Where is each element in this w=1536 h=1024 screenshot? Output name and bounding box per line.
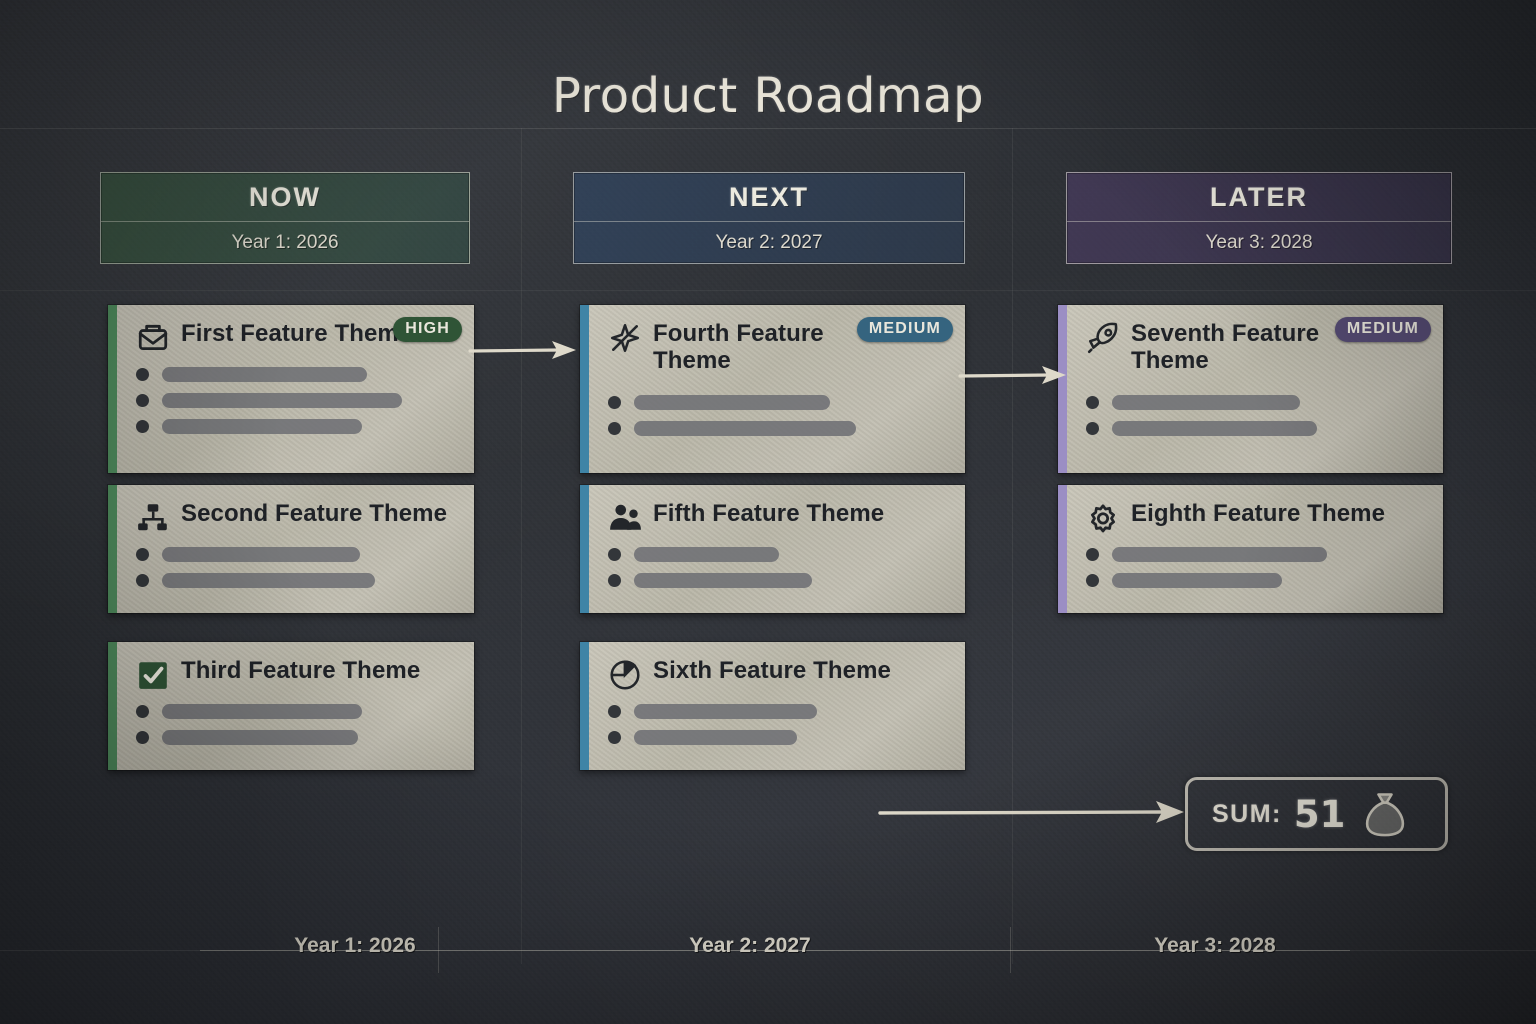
column-subtitle-later: Year 3: 2028 bbox=[1067, 222, 1451, 263]
card-bullet-item bbox=[1086, 395, 1429, 410]
timeline-axis: Year 1: 2026 Year 2: 2027 Year 3: 2028 bbox=[0, 950, 1536, 952]
roadmap-card[interactable]: Second Feature Theme bbox=[108, 485, 474, 613]
card-body: Third Feature Theme bbox=[136, 642, 460, 770]
column-title-next: NEXT bbox=[574, 173, 964, 222]
card-title-row: Second Feature Theme bbox=[136, 485, 460, 535]
bullet-dot-icon bbox=[136, 420, 149, 433]
bullet-redacted-bar bbox=[1112, 573, 1282, 588]
card-bullet-item bbox=[136, 573, 460, 588]
column-title-now: NOW bbox=[101, 173, 469, 222]
column-header-next[interactable]: NEXT Year 2: 2027 bbox=[573, 172, 965, 264]
card-body: Fifth Feature Theme bbox=[608, 485, 951, 613]
card-bullet-item bbox=[1086, 421, 1429, 436]
priority-badge[interactable]: MEDIUM bbox=[857, 317, 953, 342]
guide-line-vertical-1 bbox=[521, 128, 522, 964]
card-accent-bar bbox=[1058, 485, 1067, 613]
card-body: Second Feature Theme bbox=[136, 485, 460, 613]
card-bullet-item bbox=[136, 393, 460, 408]
gear-icon bbox=[1086, 501, 1120, 535]
roadmap-card[interactable]: Seventh Feature ThemeMEDIUM bbox=[1058, 305, 1443, 473]
card-title: Sixth Feature Theme bbox=[653, 658, 891, 685]
column-header-now[interactable]: NOW Year 1: 2026 bbox=[100, 172, 470, 264]
card-bullet-list bbox=[136, 704, 460, 745]
card-bullet-item bbox=[608, 395, 951, 410]
bullet-redacted-bar bbox=[162, 704, 362, 719]
card-title-row: Sixth Feature Theme bbox=[608, 642, 951, 692]
guide-line-cards bbox=[0, 290, 1536, 291]
shooting-star-icon bbox=[608, 321, 642, 355]
bullet-dot-icon bbox=[1086, 548, 1099, 561]
bullet-dot-icon bbox=[608, 731, 621, 744]
page-title: Product Roadmap bbox=[0, 68, 1536, 124]
pie-chart-icon bbox=[608, 658, 642, 692]
users-icon bbox=[608, 501, 642, 535]
card-bullet-item bbox=[1086, 573, 1429, 588]
card-bullet-item bbox=[608, 704, 951, 719]
card-bullet-list bbox=[136, 547, 460, 588]
card-bullet-list bbox=[136, 367, 460, 434]
column-subtitle-next: Year 2: 2027 bbox=[574, 222, 964, 263]
card-title: Fourth Feature Theme bbox=[653, 321, 883, 375]
rocket-icon bbox=[1086, 321, 1120, 355]
bullet-dot-icon bbox=[136, 574, 149, 587]
sum-label: SUM: bbox=[1212, 800, 1282, 829]
sum-value: 51 bbox=[1294, 793, 1346, 836]
card-bullet-item bbox=[136, 367, 460, 382]
bullet-dot-icon bbox=[136, 548, 149, 561]
bullet-redacted-bar bbox=[634, 421, 856, 436]
bullet-redacted-bar bbox=[634, 730, 797, 745]
checkbox-checked-icon bbox=[136, 658, 170, 692]
bullet-dot-icon bbox=[1086, 396, 1099, 409]
card-title: Third Feature Theme bbox=[181, 658, 420, 685]
sum-box[interactable]: SUM: 51 bbox=[1185, 777, 1448, 851]
card-accent-bar bbox=[1058, 305, 1067, 473]
card-title-row: Eighth Feature Theme bbox=[1086, 485, 1429, 535]
card-accent-bar bbox=[580, 642, 589, 770]
bullet-redacted-bar bbox=[1112, 395, 1300, 410]
card-accent-bar bbox=[108, 305, 117, 473]
card-bullet-item bbox=[1086, 547, 1429, 562]
money-bag-icon bbox=[1359, 788, 1411, 840]
card-title: Second Feature Theme bbox=[181, 501, 447, 528]
card-title-row: Fifth Feature Theme bbox=[608, 485, 951, 535]
bullet-redacted-bar bbox=[634, 573, 812, 588]
card-bullet-list bbox=[608, 704, 951, 745]
timeline-label-year-3: Year 3: 2028 bbox=[1140, 934, 1289, 958]
bullet-dot-icon bbox=[1086, 574, 1099, 587]
bullet-redacted-bar bbox=[1112, 421, 1317, 436]
roadmap-card[interactable]: Eighth Feature Theme bbox=[1058, 485, 1443, 613]
bullet-dot-icon bbox=[608, 705, 621, 718]
bullet-redacted-bar bbox=[634, 395, 830, 410]
bullet-redacted-bar bbox=[634, 547, 779, 562]
card-bullet-item bbox=[608, 421, 951, 436]
bullet-redacted-bar bbox=[1112, 547, 1327, 562]
card-title: First Feature Theme bbox=[181, 321, 412, 348]
bullet-redacted-bar bbox=[162, 419, 362, 434]
bullet-dot-icon bbox=[608, 574, 621, 587]
roadmap-card[interactable]: Fifth Feature Theme bbox=[580, 485, 965, 613]
priority-badge[interactable]: HIGH bbox=[393, 317, 462, 342]
card-accent-bar bbox=[580, 485, 589, 613]
bullet-dot-icon bbox=[608, 548, 621, 561]
card-bullet-item bbox=[608, 573, 951, 588]
bullet-redacted-bar bbox=[162, 367, 367, 382]
guide-line-vertical-2 bbox=[1012, 128, 1013, 964]
bullet-dot-icon bbox=[1086, 422, 1099, 435]
bullet-redacted-bar bbox=[634, 704, 817, 719]
bullet-dot-icon bbox=[136, 394, 149, 407]
bullet-redacted-bar bbox=[162, 573, 375, 588]
roadmap-card[interactable]: First Feature ThemeHIGH bbox=[108, 305, 474, 473]
card-accent-bar bbox=[108, 485, 117, 613]
card-accent-bar bbox=[580, 305, 589, 473]
column-title-later: LATER bbox=[1067, 173, 1451, 222]
timeline-label-year-1: Year 1: 2026 bbox=[280, 934, 429, 958]
card-bullet-item bbox=[136, 730, 460, 745]
card-bullet-list bbox=[608, 395, 951, 436]
card-body: Sixth Feature Theme bbox=[608, 642, 951, 770]
card-bullet-item bbox=[136, 547, 460, 562]
card-body: Eighth Feature Theme bbox=[1086, 485, 1429, 613]
bullet-dot-icon bbox=[136, 705, 149, 718]
card-accent-bar bbox=[108, 642, 117, 770]
roadmap-card[interactable]: Third Feature Theme bbox=[108, 642, 474, 770]
card-title-row: Third Feature Theme bbox=[136, 642, 460, 692]
roadmap-card[interactable]: Sixth Feature Theme bbox=[580, 642, 965, 770]
roadmap-card[interactable]: Fourth Feature ThemeMEDIUM bbox=[580, 305, 965, 473]
bullet-dot-icon bbox=[136, 731, 149, 744]
card-title: Eighth Feature Theme bbox=[1131, 501, 1385, 528]
card-bullet-list bbox=[1086, 547, 1429, 588]
card-bullet-item bbox=[608, 547, 951, 562]
card-title: Seventh Feature Theme bbox=[1131, 321, 1361, 375]
card-bullet-item bbox=[136, 704, 460, 719]
card-bullet-item bbox=[608, 730, 951, 745]
bullet-dot-icon bbox=[136, 368, 149, 381]
column-header-later[interactable]: LATER Year 3: 2028 bbox=[1066, 172, 1452, 264]
bullet-dot-icon bbox=[608, 422, 621, 435]
timeline-label-year-2: Year 2: 2027 bbox=[675, 934, 824, 958]
bullet-redacted-bar bbox=[162, 547, 360, 562]
bullet-dot-icon bbox=[608, 396, 621, 409]
bullet-redacted-bar bbox=[162, 393, 402, 408]
card-bullet-list bbox=[608, 547, 951, 588]
guide-line-top bbox=[0, 128, 1536, 129]
column-subtitle-now: Year 1: 2026 bbox=[101, 222, 469, 263]
priority-badge[interactable]: MEDIUM bbox=[1335, 317, 1431, 342]
card-bullet-item bbox=[136, 419, 460, 434]
sitemap-icon bbox=[136, 501, 170, 535]
bullet-redacted-bar bbox=[162, 730, 358, 745]
card-bullet-list bbox=[1086, 395, 1429, 436]
card-title: Fifth Feature Theme bbox=[653, 501, 884, 528]
inbox-icon bbox=[136, 321, 170, 355]
